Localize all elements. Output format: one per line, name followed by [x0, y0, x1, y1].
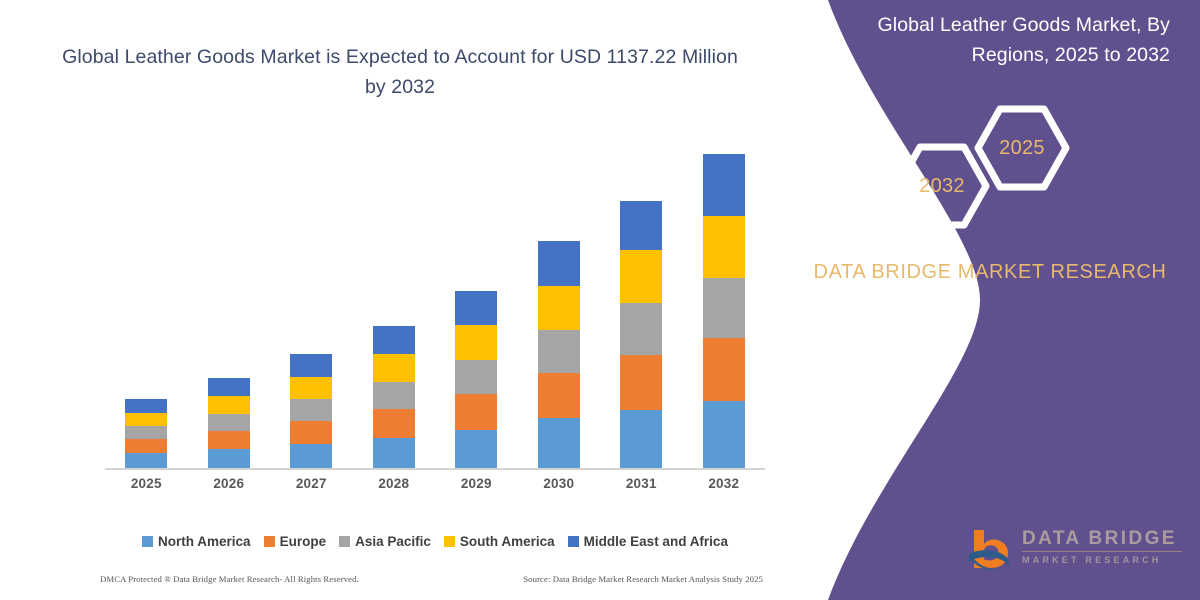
legend-item[interactable]: Middle East and Africa	[568, 534, 728, 549]
bar-segment	[125, 413, 167, 426]
x-axis-tick-labels: 20252026202720282029203020312032	[105, 476, 765, 500]
bar-segment	[620, 355, 662, 410]
bar-segment	[455, 360, 497, 394]
source-note: Source: Data Bridge Market Research Mark…	[523, 574, 763, 584]
bar-segment	[208, 414, 250, 431]
hexagon-badge-left: 2032	[894, 143, 990, 229]
stacked-bar-group	[105, 140, 765, 468]
bar-segment	[125, 399, 167, 413]
bar-segment	[703, 216, 745, 278]
stacked-bar	[538, 241, 580, 468]
dmca-notice: DMCA Protected ® Data Bridge Market Rese…	[100, 574, 359, 584]
stacked-bar	[290, 354, 332, 468]
x-axis-tick-label: 2029	[455, 476, 497, 500]
bar-segment	[538, 373, 580, 418]
brand-name-text: DATA BRIDGE MARKET RESEARCH	[800, 258, 1180, 287]
x-axis-tick-label: 2028	[373, 476, 415, 500]
stacked-bar	[703, 154, 745, 468]
legend-label: Middle East and Africa	[584, 534, 728, 549]
bar-segment	[208, 378, 250, 396]
legend-swatch-icon	[264, 536, 275, 547]
bar-segment	[703, 401, 745, 468]
bar-segment	[125, 439, 167, 453]
bar-segment	[208, 449, 250, 468]
legend-swatch-icon	[339, 536, 350, 547]
legend-item[interactable]: Europe	[264, 534, 327, 549]
bar-segment	[455, 394, 497, 430]
stacked-bar	[373, 326, 415, 468]
chart-panel: Global Leather Goods Market is Expected …	[0, 0, 800, 600]
bar-segment	[538, 286, 580, 330]
bar-segment	[703, 278, 745, 338]
bar-segment	[538, 330, 580, 373]
dbmr-logo-line2: MARKET RESEARCH	[1022, 554, 1182, 566]
bar-segment	[455, 430, 497, 468]
stacked-bar	[125, 399, 167, 468]
bar-segment	[373, 382, 415, 409]
x-axis-line	[105, 468, 765, 470]
stacked-bar	[620, 201, 662, 468]
legend-swatch-icon	[444, 536, 455, 547]
hexagon-badges: 2025 2032	[880, 105, 1180, 230]
x-axis-tick-label: 2027	[290, 476, 332, 500]
bar-segment	[620, 303, 662, 355]
bar-segment	[455, 325, 497, 360]
bar-segment	[290, 421, 332, 444]
x-axis-tick-label: 2032	[703, 476, 745, 500]
hexagon-left-label: 2032	[894, 143, 990, 229]
bar-segment	[125, 453, 167, 468]
x-axis-tick-label: 2030	[538, 476, 580, 500]
stacked-bar	[208, 378, 250, 468]
bar-segment	[373, 438, 415, 468]
legend-item[interactable]: Asia Pacific	[339, 534, 431, 549]
bar-segment	[290, 354, 332, 377]
chart-legend: North AmericaEuropeAsia PacificSouth Ame…	[105, 530, 765, 552]
bar-segment	[538, 241, 580, 286]
bar-segment	[373, 354, 415, 382]
side-panel-title: Global Leather Goods Market, By Regions,…	[810, 10, 1170, 70]
bar-segment	[455, 291, 497, 325]
bar-segment	[538, 418, 580, 468]
bar-segment	[703, 338, 745, 401]
bar-segment	[290, 444, 332, 468]
chart-footer: DMCA Protected ® Data Bridge Market Rese…	[95, 570, 785, 588]
bar-segment	[290, 399, 332, 421]
bar-segment	[703, 154, 745, 216]
dbmr-logo-text: DATA BRIDGE MARKET RESEARCH	[1022, 528, 1182, 566]
bar-segment	[373, 326, 415, 354]
bar-segment	[125, 426, 167, 439]
legend-swatch-icon	[568, 536, 579, 547]
x-axis-tick-label: 2031	[620, 476, 662, 500]
legend-item[interactable]: North America	[142, 534, 251, 549]
bar-segment	[208, 396, 250, 414]
legend-label: South America	[460, 534, 555, 549]
bar-segment	[620, 410, 662, 468]
bar-segment	[290, 377, 332, 399]
bar-segment	[620, 250, 662, 303]
legend-label: Asia Pacific	[355, 534, 431, 549]
bar-segment	[620, 201, 662, 250]
dbmr-logo-divider	[1022, 551, 1182, 552]
legend-label: North America	[158, 534, 251, 549]
chart-title: Global Leather Goods Market is Expected …	[60, 42, 740, 102]
bar-segment	[373, 409, 415, 438]
dbmr-logo: DATA BRIDGE MARKET RESEARCH	[960, 518, 1185, 580]
screenshot-root: Global Leather Goods Market is Expected …	[0, 0, 1200, 600]
x-axis-tick-label: 2026	[208, 476, 250, 500]
brand-panel-content: Global Leather Goods Market, By Regions,…	[780, 0, 1200, 600]
dbmr-logo-line1: DATA BRIDGE	[1022, 528, 1182, 550]
legend-swatch-icon	[142, 536, 153, 547]
x-axis-tick-label: 2025	[125, 476, 167, 500]
stacked-bar	[455, 291, 497, 468]
legend-label: Europe	[280, 534, 327, 549]
legend-item[interactable]: South America	[444, 534, 555, 549]
dbmr-logo-mark-icon	[966, 524, 1018, 574]
bar-segment	[208, 431, 250, 449]
